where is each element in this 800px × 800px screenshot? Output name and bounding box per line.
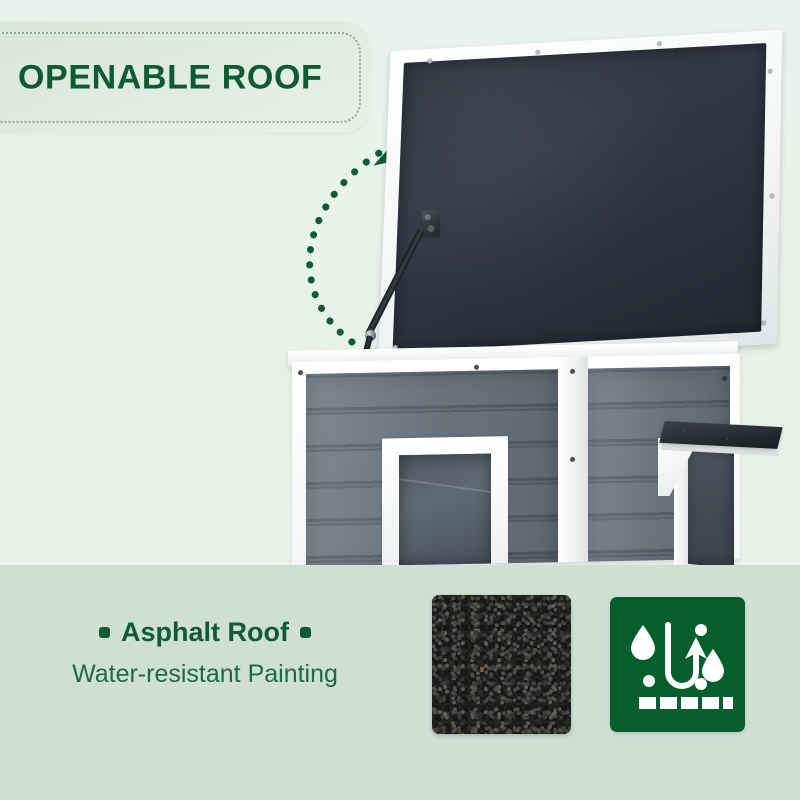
house-screw (474, 365, 479, 370)
feature-subtitle: Water-resistant Painting (0, 660, 410, 689)
product-feature-image: OPENABLE ROOF (0, 0, 800, 800)
door-opening (382, 436, 508, 565)
door-interior (399, 453, 491, 565)
lid-asphalt-surface (392, 43, 766, 352)
openable-roof-lid (378, 30, 782, 366)
asphalt-speck (480, 667, 484, 672)
feature-title: Asphalt Roof (0, 617, 410, 648)
house-side-wall (684, 445, 734, 565)
feature-text-block: Asphalt Roof Water-resistant Painting (0, 617, 410, 689)
feature-title-label: Asphalt Roof (121, 617, 289, 647)
product-photo (270, 40, 800, 565)
asphalt-texture-swatch (432, 595, 571, 734)
water-repellent-icon (610, 597, 745, 732)
house-screw (298, 370, 303, 375)
bullet-dot-left (99, 627, 110, 638)
bullet-dot-right (300, 627, 311, 638)
water-resistant-icon-tile (610, 597, 745, 732)
hero-section: OPENABLE ROOF (0, 0, 800, 565)
